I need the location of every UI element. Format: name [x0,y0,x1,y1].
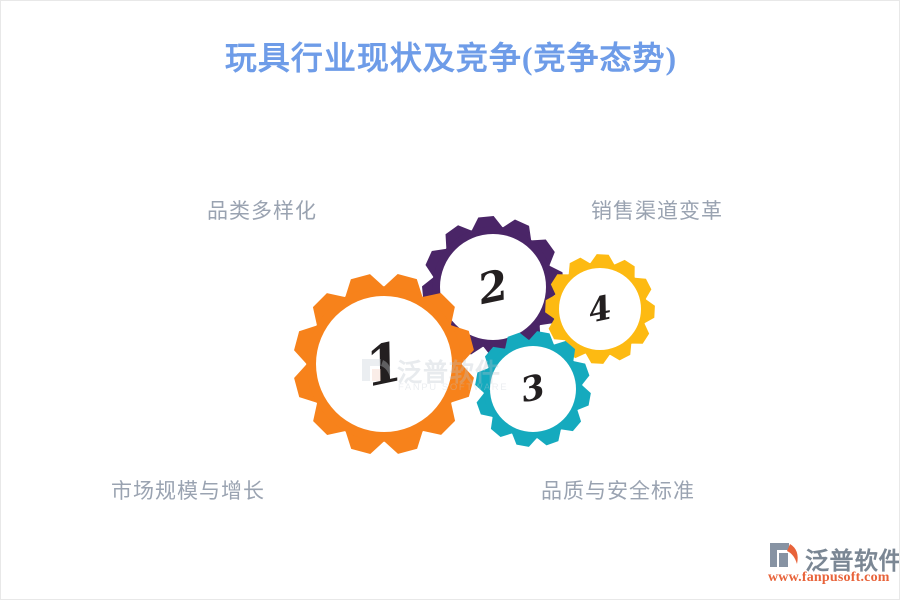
callout-label-quality-safety: 品质与安全标准 [541,475,695,505]
brand-url: www.fanpusoft.com [768,570,890,586]
callout-label-market-growth: 市场规模与增长 [111,475,265,505]
callout-label-sales-channel: 销售渠道变革 [591,195,723,225]
brand-logo[interactable]: 泛普软件 www.fanpusoft.com [767,539,893,589]
gear-1[interactable]: 1 [294,274,474,454]
gear-3[interactable]: 3 [475,331,591,447]
slide-canvas: 玩具行业现状及竞争(竞争态势) 2431 泛普软件 FANPU SOFTWARE… [0,0,900,600]
page-title: 玩具行业现状及竞争(竞争态势) [1,33,900,79]
callout-label-category-diversity: 品类多样化 [207,195,317,225]
fanpu-logo-icon [767,541,801,569]
